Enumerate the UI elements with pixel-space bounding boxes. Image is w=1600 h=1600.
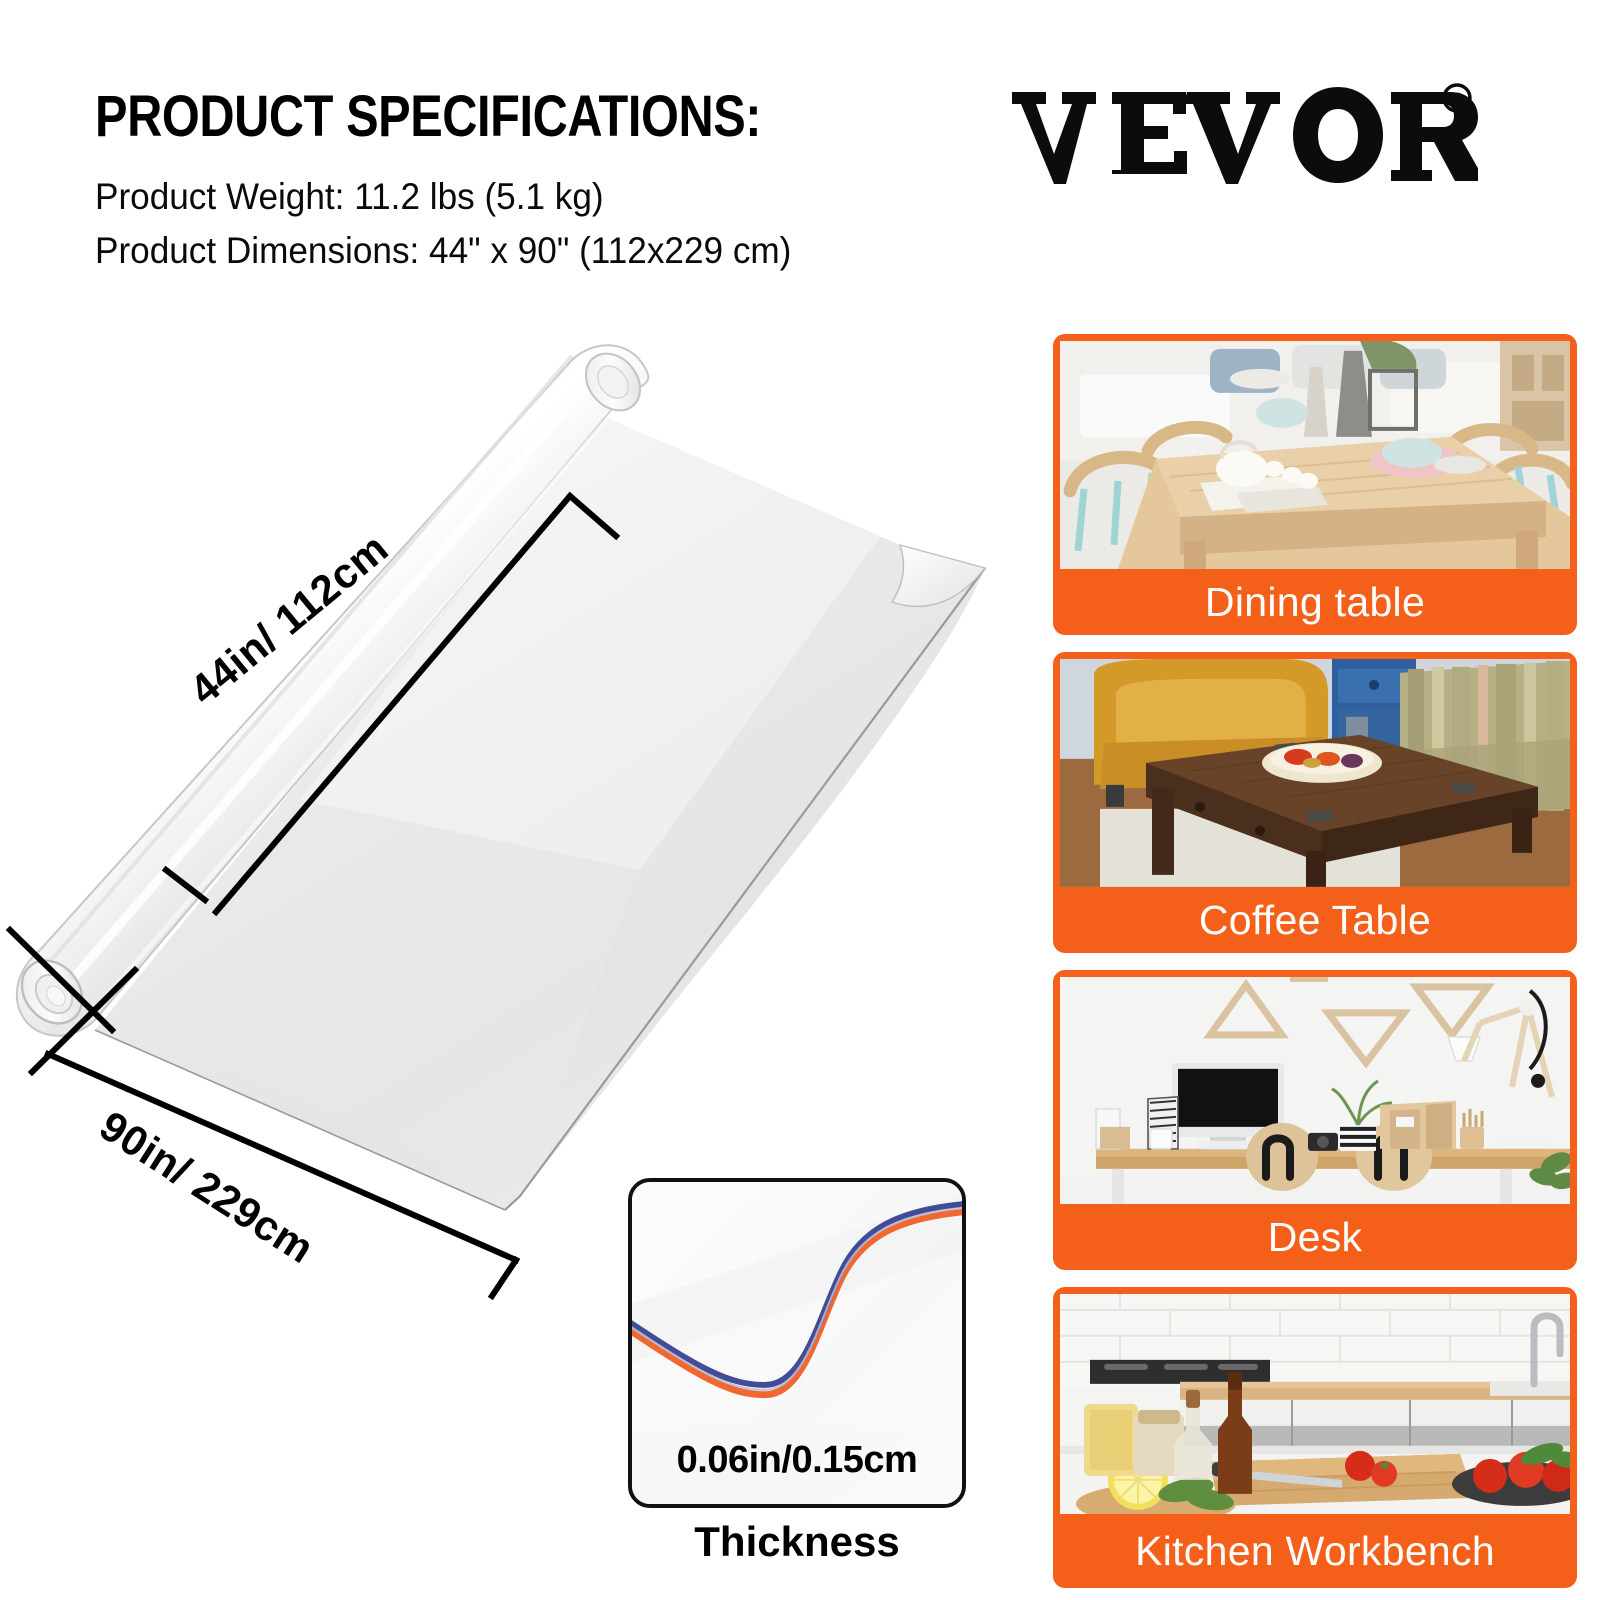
scene-photo-coffee-table bbox=[1060, 659, 1570, 887]
thickness-callout: 0.06in/0.15cm Thickness bbox=[628, 1178, 966, 1508]
scene-label-dining-table: Dining table bbox=[1060, 569, 1570, 635]
scene-card-coffee-table[interactable]: Coffee Table bbox=[1053, 652, 1577, 953]
svg-text:R: R bbox=[1450, 89, 1464, 110]
vevor-logo: R bbox=[1008, 78, 1478, 190]
thickness-value: 0.06in/0.15cm bbox=[628, 1439, 966, 1482]
page-title: PRODUCT SPECIFICATIONS: bbox=[95, 88, 834, 146]
scene-card-desk[interactable]: Desk bbox=[1053, 970, 1577, 1271]
scene-label-kitchen-workbench: Kitchen Workbench bbox=[1060, 1514, 1570, 1588]
scene-label-coffee-table: Coffee Table bbox=[1060, 887, 1570, 953]
spec-line-dimensions: Product Dimensions: 44" x 90" (112x229 c… bbox=[95, 224, 931, 278]
scene-photo-kitchen-workbench bbox=[1060, 1294, 1570, 1514]
thickness-caption: Thickness bbox=[628, 1518, 966, 1566]
scene-label-desk: Desk bbox=[1060, 1204, 1570, 1270]
scene-card-list: Dining table bbox=[1053, 334, 1577, 1588]
scene-card-kitchen-workbench[interactable]: Kitchen Workbench bbox=[1053, 1287, 1577, 1588]
spec-line-weight: Product Weight: 11.2 lbs (5.1 kg) bbox=[95, 170, 931, 224]
scene-card-dining-table[interactable]: Dining table bbox=[1053, 334, 1577, 635]
scene-photo-desk bbox=[1060, 977, 1570, 1205]
spec-list: Product Weight: 11.2 lbs (5.1 kg) Produc… bbox=[95, 170, 975, 278]
scene-photo-dining-table bbox=[1060, 341, 1570, 569]
header-block: PRODUCT SPECIFICATIONS: Product Weight: … bbox=[95, 88, 975, 278]
